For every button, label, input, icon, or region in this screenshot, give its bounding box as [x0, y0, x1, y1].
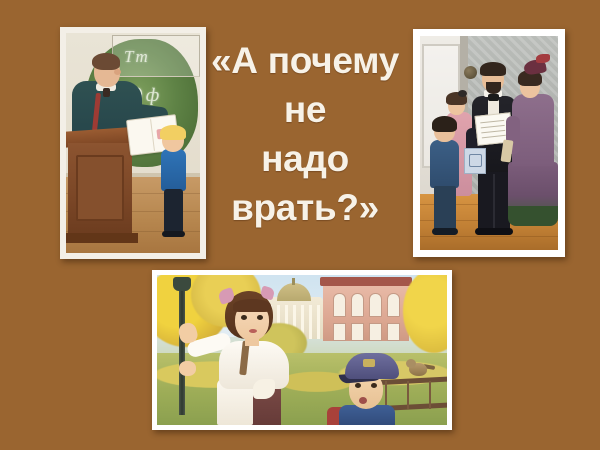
hat-feather: [536, 54, 550, 63]
pupil-jacket: [161, 149, 186, 191]
boy-eye: [355, 383, 361, 388]
boy-hair: [432, 116, 457, 132]
cap-badge-icon: [363, 359, 375, 367]
father-hair: [480, 62, 506, 76]
title-line-3: надо: [205, 134, 405, 183]
pupil-shoes: [162, 231, 185, 237]
slide-title: «А почему не надо врать?»: [205, 36, 405, 232]
girl-mouth: [249, 329, 257, 333]
girl-fringe: [233, 299, 271, 312]
autumn-tree: [403, 275, 447, 353]
pupil-hair: [160, 125, 186, 140]
father-beard: [486, 82, 501, 94]
window: [387, 293, 400, 317]
window: [369, 293, 382, 317]
girl-apron-bow: [253, 379, 275, 399]
parents-artwork: [420, 36, 558, 250]
dome-finial: [292, 278, 295, 285]
autumn-park-illustration: [152, 270, 452, 430]
sparrow-head: [406, 359, 416, 368]
lamp-head: [173, 277, 191, 291]
presentation-slide: Тт Ддф: [0, 0, 600, 450]
window: [333, 293, 346, 317]
girl-hair-bow: [458, 90, 467, 97]
window: [351, 323, 364, 341]
girl-hand-down: [179, 361, 196, 376]
window: [333, 323, 346, 341]
teacher-hair: [92, 53, 120, 70]
pupil-legs: [164, 189, 183, 233]
classroom-illustration: Тт Ддф: [60, 27, 206, 259]
window: [351, 293, 364, 317]
door-knob-icon: [464, 66, 477, 79]
lectern-base: [66, 233, 138, 243]
mother-skirt-hem: [508, 206, 558, 226]
title-line-4: врать?»: [205, 183, 405, 232]
boy-eye: [371, 383, 377, 388]
boy-jacket: [430, 140, 459, 188]
girl-cape-collar: [219, 341, 289, 389]
park-artwork: [157, 275, 447, 425]
teacher-nose: [114, 69, 121, 75]
teacher-tie: [103, 88, 110, 97]
hedge-foliage: [157, 353, 447, 425]
boy-shoes: [432, 228, 458, 235]
parents-letter-illustration: [413, 29, 565, 257]
mansion-roof: [320, 277, 412, 286]
lamp-post: [179, 283, 185, 415]
window: [369, 323, 382, 341]
boy-legs: [434, 186, 456, 230]
lectern-panel: [76, 155, 124, 221]
title-line-1: «А почему: [205, 36, 405, 85]
chalk-text-line1: Тт: [124, 47, 150, 67]
girl-eye: [241, 315, 247, 320]
father-trouser-seam: [493, 174, 495, 230]
window: [387, 323, 400, 341]
father-shoes: [475, 228, 513, 235]
classroom-artwork: Тт Ддф: [66, 33, 200, 253]
title-line-2: не: [205, 85, 405, 134]
girl-eye: [257, 315, 263, 320]
father-bowtie: [488, 94, 499, 101]
blue-note-card: [464, 148, 486, 174]
boy-mouth: [359, 397, 367, 404]
